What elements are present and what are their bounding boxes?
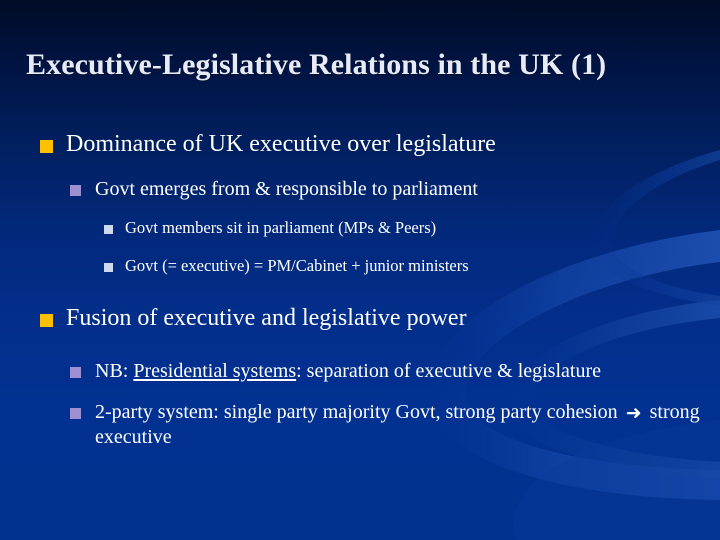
bullet-level2-presidential-systems-text: NB: Presidential systems: separation of … xyxy=(95,359,720,384)
spacer xyxy=(0,282,720,304)
bullet-square-lavender-icon xyxy=(70,400,95,419)
bullet-level2-govt-emerges: Govt emerges from & responsible to parli… xyxy=(0,177,720,202)
right-arrow-icon: ➜ xyxy=(623,404,645,423)
bullet-level1-fusion-text: Fusion of executive and legislative powe… xyxy=(66,304,720,333)
bullet-level2-presidential-systems: NB: Presidential systems: separation of … xyxy=(0,359,720,384)
bullet-level2-two-party-system-text: 2-party system: single party majority Go… xyxy=(95,400,720,450)
bullet-square-gold-icon xyxy=(40,130,66,153)
spacer xyxy=(0,206,720,218)
bullet-square-gold-icon xyxy=(40,304,66,327)
nb-suffix: : separation of executive & legislature xyxy=(296,360,601,382)
presentation-slide: Executive-Legislative Relations in the U… xyxy=(0,0,720,540)
bullet-level3-govt-members: Govt members sit in parliament (MPs & Pe… xyxy=(0,218,720,239)
bullet-level3-govt-executive-text: Govt (= executive) = PM/Cabinet + junior… xyxy=(125,256,720,277)
nb-prefix: NB: xyxy=(95,360,133,382)
bullet-level2-govt-emerges-text: Govt emerges from & responsible to parli… xyxy=(95,177,720,202)
bullet-level3-govt-executive: Govt (= executive) = PM/Cabinet + junior… xyxy=(0,256,720,277)
two-party-prefix: 2-party system: single party majority Go… xyxy=(95,401,623,423)
bullet-square-pale-icon xyxy=(104,218,125,234)
slide-title: Executive-Legislative Relations in the U… xyxy=(26,48,698,82)
spacer xyxy=(0,339,720,359)
spacer xyxy=(0,388,720,400)
bullet-level1-dominance-text: Dominance of UK executive over legislatu… xyxy=(66,130,720,159)
bullet-level3-govt-members-text: Govt members sit in parliament (MPs & Pe… xyxy=(125,218,720,239)
bullet-level1-fusion: Fusion of executive and legislative powe… xyxy=(0,304,720,333)
bullet-square-lavender-icon xyxy=(70,359,95,378)
bullet-square-lavender-icon xyxy=(70,177,95,196)
bullet-level1-dominance: Dominance of UK executive over legislatu… xyxy=(0,130,720,159)
slide-body: Dominance of UK executive over legislatu… xyxy=(0,130,720,454)
spacer xyxy=(0,165,720,177)
bullet-level2-two-party-system: 2-party system: single party majority Go… xyxy=(0,400,720,450)
presidential-systems-emphasis: Presidential systems xyxy=(133,360,296,382)
bullet-square-pale-icon xyxy=(104,256,125,272)
spacer xyxy=(0,244,720,256)
